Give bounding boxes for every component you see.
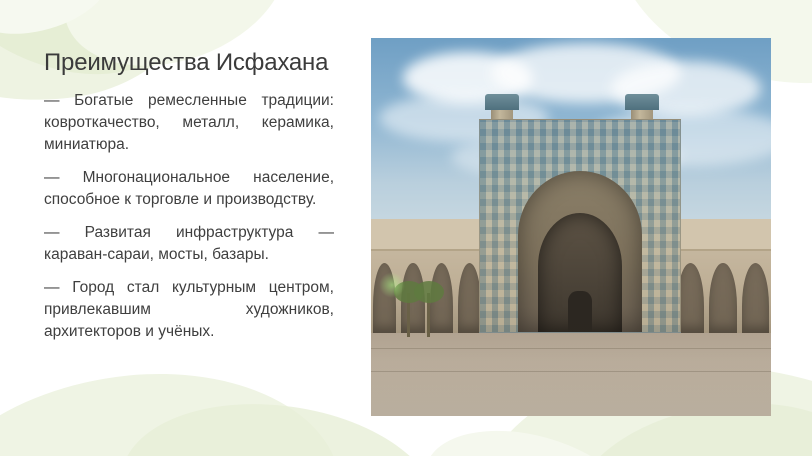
text-column: Преимущества Исфахана — Богатые ремеслен… (44, 48, 334, 343)
photo-vignette (371, 38, 771, 416)
bullet-item-4: — Город стал культурным центром, привлек… (44, 277, 334, 343)
presentation-slide: Преимущества Исфахана — Богатые ремеслен… (0, 0, 812, 456)
slide-image (371, 38, 771, 416)
bullet-item-1: — Богатые ремесленные традиции: ковротка… (44, 90, 334, 156)
slide-content: Преимущества Исфахана — Богатые ремеслен… (0, 0, 812, 456)
slide-title: Преимущества Исфахана (44, 48, 334, 78)
bullet-item-3: — Развитая инфраструктура — караван-сара… (44, 222, 334, 266)
mosque-photo (371, 38, 771, 416)
bullet-item-2: — Многонациональное население, способное… (44, 167, 334, 211)
